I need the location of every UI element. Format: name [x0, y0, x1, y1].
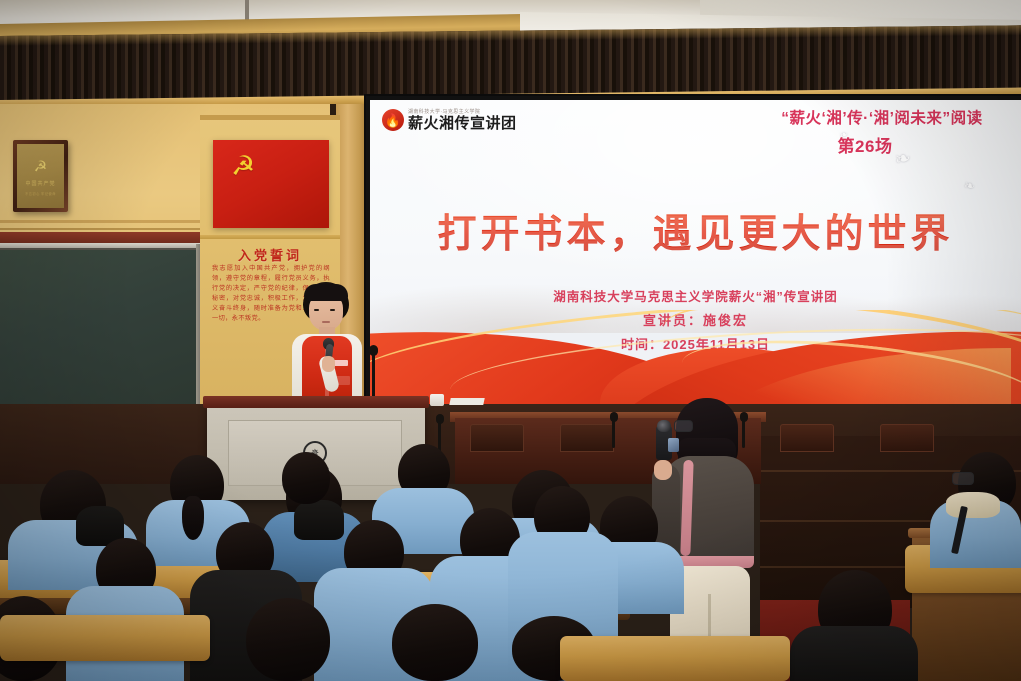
- party-panel-divider: [200, 235, 340, 239]
- stage-chair: [880, 424, 934, 452]
- led-screen: 🔥 湖南科技大学·马克思主义学院 薪火湘传宣讲团 “薪火‘湘’传·‘湘’阅未来”…: [370, 100, 1021, 428]
- party-panel-top-edge: [200, 115, 340, 120]
- microphone-head-icon: [436, 414, 444, 424]
- microphone-table: [438, 420, 441, 452]
- audience-head: [282, 452, 330, 504]
- audience-ponytail: [182, 496, 204, 540]
- eyeglasses-icon: [674, 420, 693, 432]
- audience-head: [246, 598, 330, 681]
- hammer-sickle-icon: ☭: [231, 153, 255, 180]
- screen-logo-text: 湖南科技大学·马克思主义学院 薪火湘传宣讲团: [408, 110, 517, 131]
- paper-sheet: [449, 398, 484, 405]
- chalkboard: [0, 248, 200, 428]
- speaker-person: [278, 282, 374, 408]
- wall-trim-upper: [0, 220, 200, 223]
- framed-picture: ☭ 中国共产党 不忘初心 牢记使命: [13, 140, 68, 212]
- stage-chair: [470, 424, 524, 452]
- microphone-table: [612, 418, 615, 448]
- stage-chair: [780, 424, 834, 452]
- screen-logo: 🔥 湖南科技大学·马克思主义学院 薪火湘传宣讲团: [382, 109, 517, 131]
- lecture-hall-scene: ☭ 中国共产党 不忘初心 牢记使命 ☭ 入党誓词 我志愿加入中国共产党，拥护党的…: [0, 0, 1021, 681]
- party-oath-title: 入党誓词: [200, 245, 340, 264]
- photographer-hand: [654, 460, 672, 480]
- speaker-hand: [322, 356, 335, 372]
- eyeglasses-icon: [952, 472, 974, 485]
- camera-lens-icon: [657, 420, 671, 432]
- framed-picture-inner: ☭ 中国共产党 不忘初心 牢记使命: [17, 144, 64, 208]
- screen-header-line1: “薪火‘湘’传·‘湘’阅未来”阅读: [717, 106, 1021, 132]
- dove-icon-2: ❧: [963, 177, 976, 194]
- screen-header-line2: 第26场: [765, 132, 965, 157]
- flame-icon: 🔥: [382, 109, 404, 131]
- camera-screen: [668, 438, 679, 452]
- speaker-fringe: [304, 284, 348, 301]
- framed-picture-subcaption: 不忘初心 牢记使命: [17, 191, 64, 196]
- microphone-head-icon: [610, 412, 618, 422]
- hammer-sickle-icon: ☭: [34, 160, 47, 175]
- framed-picture-caption: 中国共产党: [17, 180, 64, 187]
- audience-head: [392, 604, 478, 681]
- screen-logo-maintext: 薪火湘传宣讲团: [408, 116, 517, 131]
- bench-seat: [0, 615, 210, 661]
- bench-seat: [560, 636, 790, 681]
- party-flag: ☭: [213, 140, 329, 228]
- audience-torso: [790, 626, 918, 681]
- water-cup: [430, 394, 444, 406]
- podium-top-surface: [203, 396, 429, 408]
- screen-subtitle-org: 湖南科技大学马克思主义学院薪火“湘”传宣讲团: [370, 286, 1021, 305]
- audience-hood: [294, 500, 344, 540]
- wall-trim-lower: [0, 228, 200, 230]
- screen-main-title: 打开书本，遇见更大的世界: [370, 203, 1021, 259]
- audience-scarf: [946, 492, 1000, 518]
- stage-chair: [560, 424, 614, 452]
